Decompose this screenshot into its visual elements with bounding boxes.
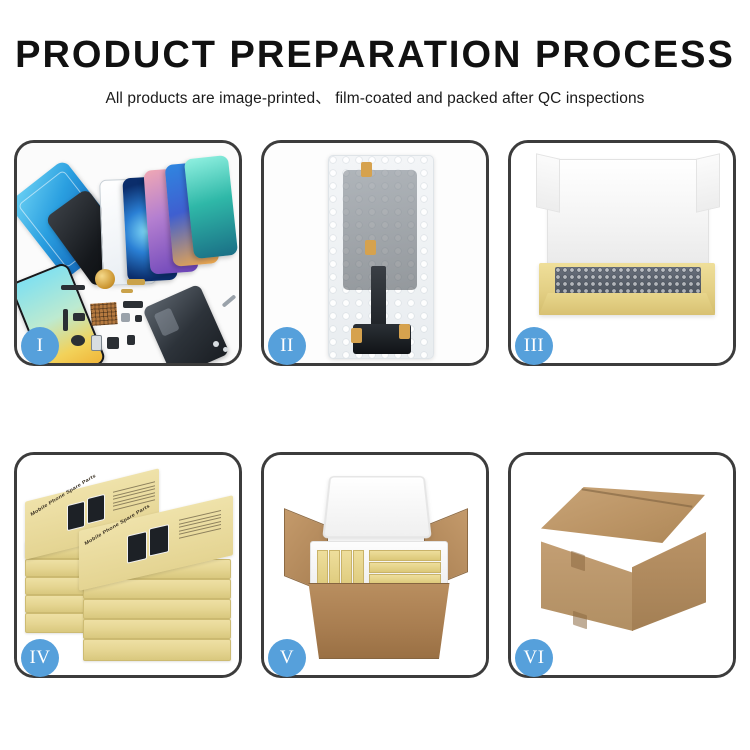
- screw-part: [213, 341, 219, 347]
- stacked-box: [83, 619, 231, 639]
- page-subtitle: All products are image-printed、 film-coa…: [0, 86, 750, 108]
- white-box-lid: [547, 159, 709, 273]
- process-steps-grid: I II: [14, 140, 736, 678]
- step-badge-3: III: [515, 327, 553, 365]
- phone-display-4: [184, 155, 238, 259]
- step-badge-4: IV: [21, 639, 59, 677]
- spare-part: [127, 335, 135, 345]
- box-phone-image: [149, 524, 169, 557]
- spare-part: [91, 335, 102, 351]
- tape-piece: [351, 328, 362, 343]
- spare-part: [121, 289, 133, 293]
- foam-lid: [322, 476, 432, 538]
- step-panel-4: Mobile Phone Spare Parts Mobile Phone Sp…: [14, 452, 242, 678]
- inner-box: [369, 550, 441, 561]
- kraft-box-front: [539, 293, 715, 315]
- carton-body: [304, 583, 454, 659]
- phone-chassis: [142, 284, 230, 363]
- box-phone-image: [87, 494, 105, 524]
- tape-piece: [361, 162, 372, 177]
- step-panel-6: VI: [508, 452, 736, 678]
- step-panel-5: V: [261, 452, 489, 678]
- carton-left-face: [541, 527, 633, 631]
- bubble-wrapped-contents: [555, 267, 701, 295]
- stacked-box: [83, 599, 231, 619]
- box-phone-image: [127, 531, 147, 564]
- spare-part: [135, 315, 142, 322]
- spare-part: [107, 337, 119, 349]
- spare-part: [73, 313, 85, 321]
- screw-part: [223, 347, 228, 352]
- coil-component: [95, 269, 115, 289]
- spare-part: [123, 301, 143, 308]
- spare-part: [121, 313, 130, 322]
- step-panel-3: III: [508, 140, 736, 366]
- step-badge-6: VI: [515, 639, 553, 677]
- bubble-wrap-bag: [328, 155, 434, 359]
- box-label-lines: [179, 510, 221, 541]
- spare-part: [127, 279, 145, 285]
- stacked-box: [83, 639, 231, 661]
- tape-piece: [399, 324, 410, 339]
- inner-box: [369, 562, 441, 573]
- spare-part: [63, 309, 68, 331]
- product-preparation-poster: PRODUCT PREPARATION PROCESS All products…: [0, 0, 750, 750]
- page-title: PRODUCT PREPARATION PROCESS: [0, 36, 750, 76]
- screwdriver-icon: [222, 294, 237, 307]
- poster-header: PRODUCT PREPARATION PROCESS All products…: [0, 36, 750, 108]
- spare-part: [61, 285, 85, 290]
- spare-part: [71, 335, 85, 346]
- step-badge-5: V: [268, 639, 306, 677]
- tape-piece: [365, 240, 376, 255]
- step-badge-1: I: [21, 327, 59, 365]
- step-badge-2: II: [268, 327, 306, 365]
- box-phone-image: [67, 501, 85, 531]
- mesh-component: [90, 302, 117, 326]
- step-panel-2: II: [261, 140, 489, 366]
- step-panel-1: I: [14, 140, 242, 366]
